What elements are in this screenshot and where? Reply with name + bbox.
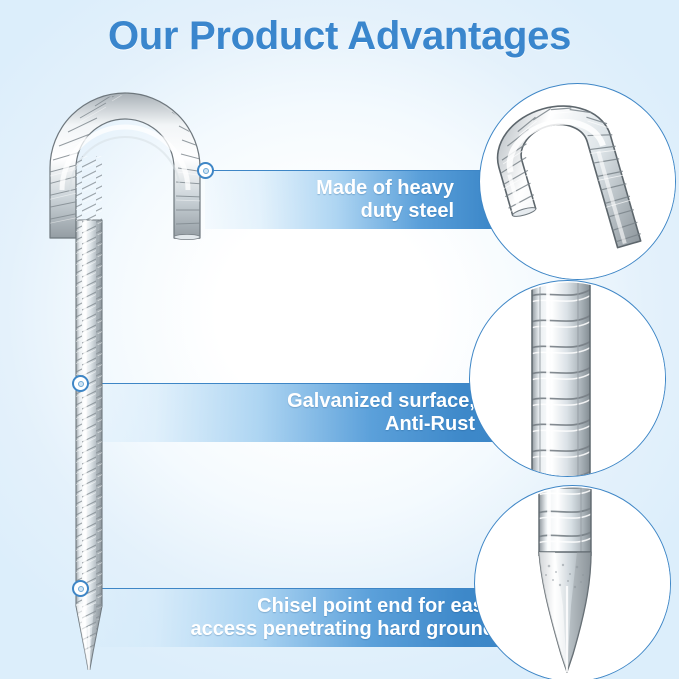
tip-closeup-drawing (475, 486, 671, 679)
feature-line-2: Anti-Rust (287, 413, 475, 436)
stake-hook (46, 86, 204, 240)
inset-photo-shaft-closeup (469, 280, 666, 477)
connector-dot-chisel-point-end (72, 580, 89, 597)
shaft-closeup-drawing (470, 281, 666, 477)
feature-line-1: Galvanized surface, (287, 390, 475, 413)
page-title: Our Product Advantages (0, 14, 679, 59)
feature-banner-text: Galvanized surface, Anti-Rust (287, 390, 475, 437)
connector-dot-heavy-duty-steel (197, 162, 214, 179)
connector-dot-galvanized-anti-rust (72, 375, 89, 392)
feature-banner-text: Made of heavy duty steel (316, 177, 454, 224)
product-illustration-rebar-stake (40, 70, 250, 670)
feature-line-1: Made of heavy (316, 177, 454, 200)
inset-photo-tip-closeup (474, 485, 671, 679)
hook-closeup-drawing (480, 84, 676, 280)
infographic-canvas: Our Product Advantages Made of heavy dut… (0, 0, 679, 679)
feature-line-2: duty steel (316, 200, 454, 223)
inset-photo-hook-closeup (479, 83, 676, 280)
